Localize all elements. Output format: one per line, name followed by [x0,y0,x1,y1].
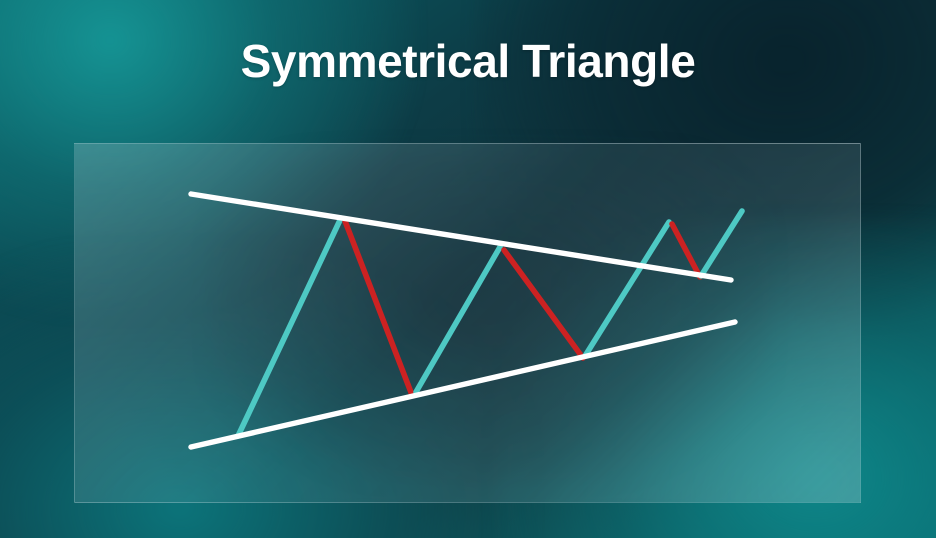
slide-canvas: Symmetrical Triangle [0,0,936,538]
chart-panel [74,143,861,503]
page-title: Symmetrical Triangle [0,36,936,87]
